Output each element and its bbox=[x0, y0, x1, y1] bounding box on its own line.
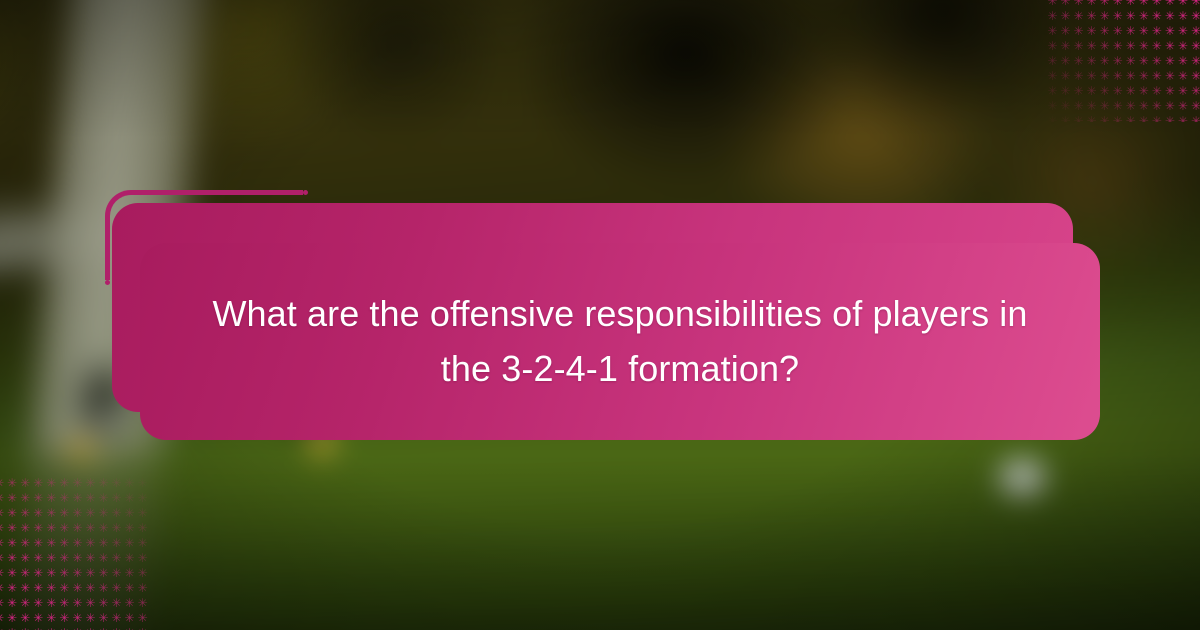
question-card-banner: ✳✳✳✳✳✳✳✳✳✳✳✳ ✳✳✳✳✳✳✳✳✳✳✳✳ ✳✳✳✳✳✳✳✳✳✳✳✳ ✳… bbox=[0, 0, 1200, 630]
question-title: What are the offensive responsibilities … bbox=[140, 243, 1100, 440]
